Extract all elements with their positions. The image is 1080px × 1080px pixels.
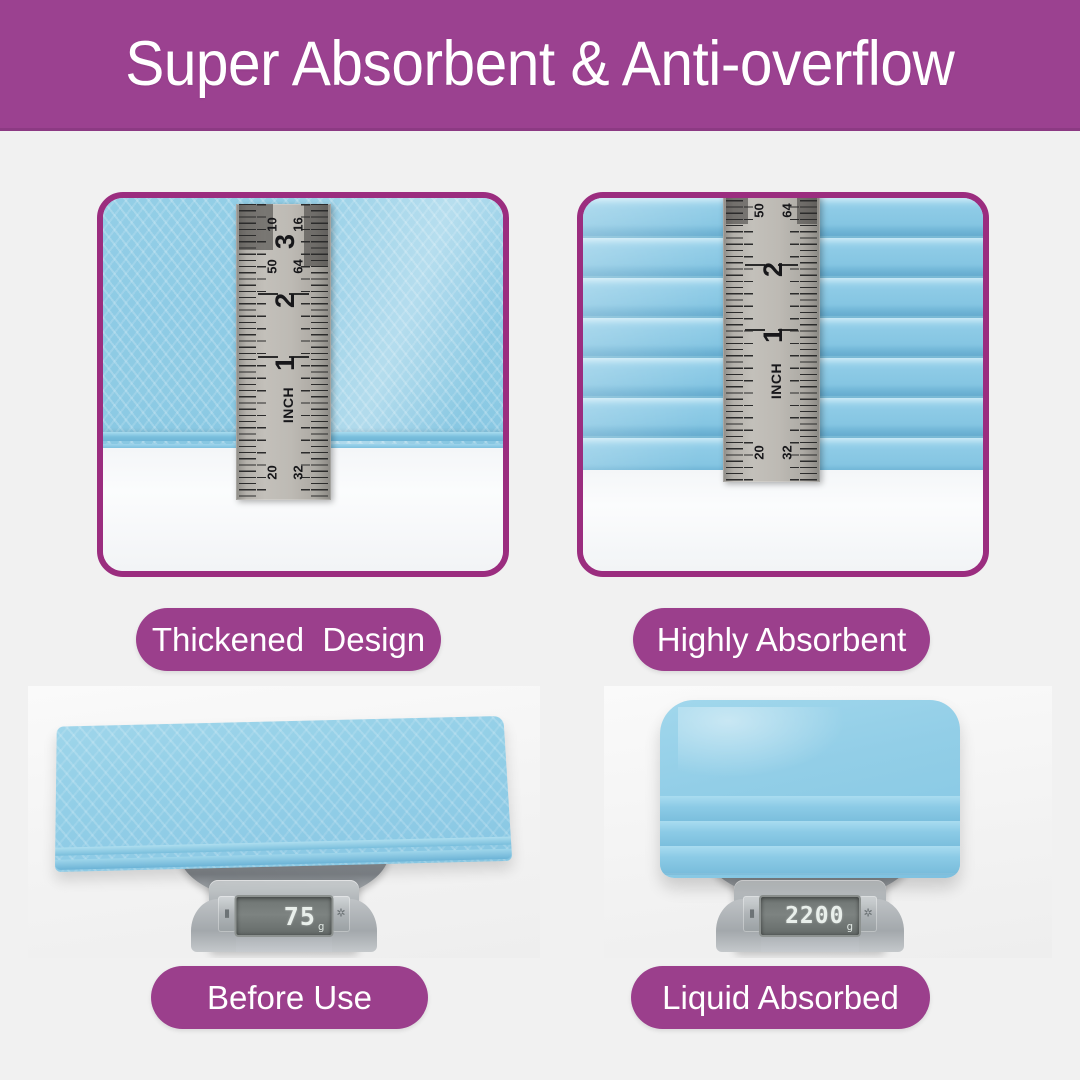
ruler-ticks-right [800,198,817,482]
photo-panel-thickened-design: 10 16 50 64 20 32 3 2 1 INCH [97,192,509,577]
ruler-ticks-left-inner [744,198,753,482]
scale-body: ▮ ✲ 2200 g [734,880,886,952]
header-banner: Super Absorbent & Anti-overflow [0,0,1080,128]
scale-body: ▮ ✲ 75 g [209,880,359,952]
table-surface [583,470,983,571]
tare-glyph: ▮ [224,909,230,920]
photo-highly-absorbent: 50 64 20 32 2 1 INCH [583,198,983,571]
scale-unit: g [318,921,325,932]
scale-tare-button[interactable]: ▮ [218,896,236,932]
header-divider [0,128,1080,131]
page-title: Super Absorbent & Anti-overflow [125,33,954,96]
ruler-ticks-right [311,204,328,500]
photo-panel-highly-absorbent: 50 64 20 32 2 1 INCH [577,192,989,577]
ruler-metric-50: 50 [266,259,279,273]
scale-display: 2200 g [759,895,861,937]
ruler-metric-32: 32 [780,445,793,459]
badge-before-use[interactable]: Before Use [151,966,428,1029]
ruler-inch-2: 2 [272,293,299,308]
ruler-metric-10: 10 [266,217,279,231]
ruler-ticks-left [239,204,256,500]
tare-glyph: ▮ [749,909,755,920]
ruler-ticks-right-inner [790,198,799,482]
ruler-inch-1: 1 [760,328,787,343]
scale-display: 75 g [235,895,334,937]
scale-value: 2200 [785,905,844,928]
badge-thickened-design[interactable]: Thickened Design [136,608,441,671]
unit-glyph: ✲ [336,909,345,920]
ruler-metric-20: 20 [753,445,766,459]
ruler-ticks-left [726,198,743,482]
ruler-metric-20: 20 [266,465,279,479]
scale-value: 75 [284,904,316,929]
ruler-metric-64: 64 [780,203,793,217]
ruler-metric-16: 16 [291,217,304,231]
underpad-dry-image [55,716,512,872]
underpad-saturated-image [660,700,960,878]
badge-highly-absorbent[interactable]: Highly Absorbent [633,608,930,671]
ruler-inch-3: 3 [272,234,299,249]
ruler-unit-label: INCH [769,363,783,399]
ruler-inch-2: 2 [760,262,787,277]
photo-thickened-design: 10 16 50 64 20 32 3 2 1 INCH [103,198,503,571]
ruler-metric-64: 64 [291,259,304,273]
badge-label: Highly Absorbent [657,623,906,656]
badge-label: Liquid Absorbed [662,981,899,1014]
ruler-metric-50: 50 [753,203,766,217]
ruler-unit-label: INCH [281,387,295,423]
pad-highlight [678,707,846,778]
photo-liquid-absorbed: ▮ ✲ 2200 g [604,686,1052,958]
photo-before-use: ▮ ✲ 75 g [28,686,540,958]
ruler-ticks-left-inner [257,204,266,500]
pad-fold-layer [660,846,960,875]
scale-unit-button[interactable]: ✲ [332,896,350,932]
scale-unit-button[interactable]: ✲ [859,896,877,932]
ruler-metric-32: 32 [291,465,304,479]
steel-ruler: 50 64 20 32 2 1 INCH [723,198,820,482]
badge-label: Thickened Design [152,623,425,656]
unit-glyph: ✲ [863,909,872,920]
badge-liquid-absorbed[interactable]: Liquid Absorbed [631,966,930,1029]
ruler-inch-1: 1 [272,356,299,371]
scale-unit: g [846,921,853,932]
steel-ruler: 10 16 50 64 20 32 3 2 1 INCH [236,204,331,500]
badge-label: Before Use [207,981,372,1014]
ruler-ticks-right-inner [301,204,310,500]
